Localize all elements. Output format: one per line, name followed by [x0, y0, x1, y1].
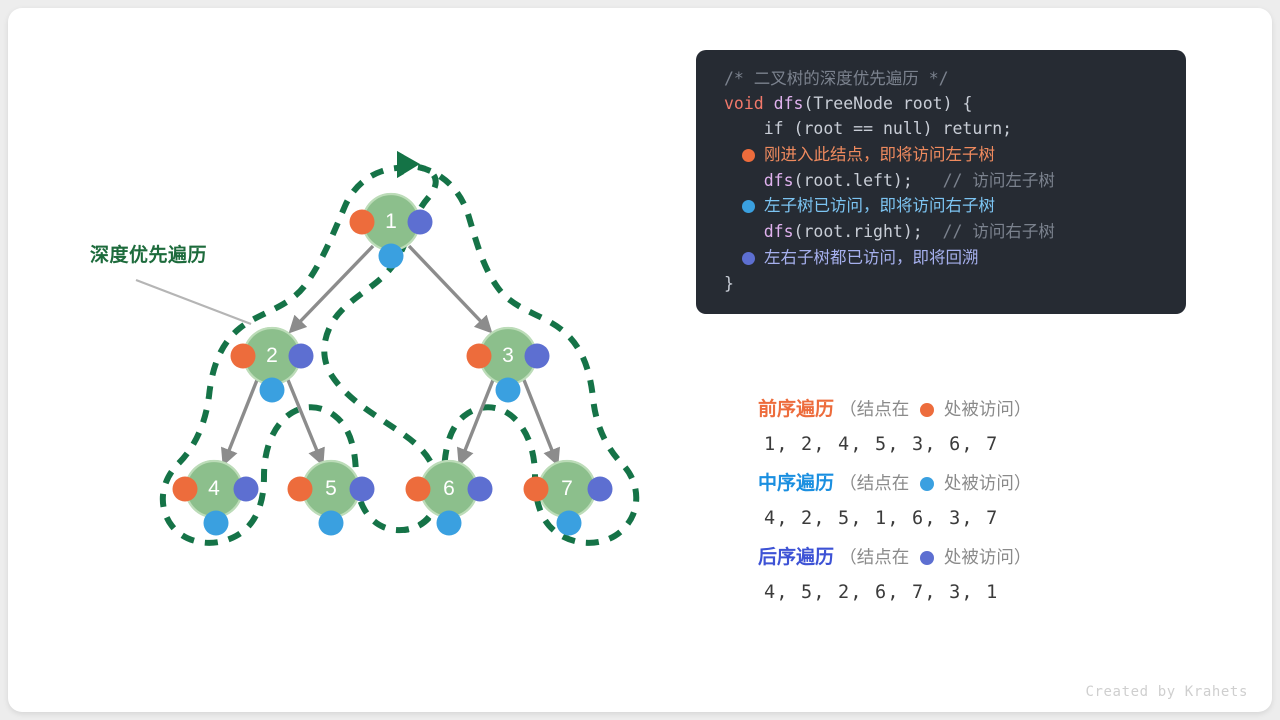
code-note-inorder-text: 左子树已访问，即将访问右子树 — [764, 193, 995, 218]
marker-preorder-1 — [350, 210, 375, 235]
edge-2-4 — [224, 380, 257, 463]
traversal-heading-inorder: 中序遍历 （结点在 处被访问） — [758, 467, 1188, 500]
tree-nodes — [173, 193, 613, 536]
preorder-dot-icon — [742, 149, 755, 162]
fn-dfs-left: dfs — [724, 171, 794, 190]
code-line-signature: void dfs(TreeNode root) { — [724, 91, 1164, 116]
postorder-dot-icon — [742, 252, 755, 265]
tree-node-4[interactable] — [173, 460, 259, 536]
traversal-note-close-preorder: 处被访问） — [944, 399, 1032, 419]
tree-node-3[interactable] — [467, 327, 550, 403]
marker-preorder-2 — [231, 344, 256, 369]
marker-postorder-7 — [588, 477, 613, 502]
binary-tree-diagram: 1 2 3 4 5 6 7 深度优先遍历 — [8, 8, 678, 712]
traversal-group-preorder: 前序遍历 （结点在 处被访问） 1, 2, 4, 5, 3, 6, 7 — [758, 393, 1188, 463]
inorder-dot-icon — [742, 200, 755, 213]
figure-card: 1 2 3 4 5 6 7 深度优先遍历 /* 二叉树的深度优先遍历 */voi… — [8, 8, 1272, 712]
code-line-dfs-left: dfs(root.left); // 访问左子树 — [724, 168, 1164, 193]
marker-preorder-3 — [467, 344, 492, 369]
traversal-sequence-inorder: 4, 2, 5, 1, 6, 3, 7 — [758, 500, 1188, 537]
marker-inorder-2 — [260, 378, 285, 403]
code-block: /* 二叉树的深度优先遍历 */void dfs(TreeNode root) … — [696, 50, 1186, 314]
edge-2-5 — [288, 380, 322, 463]
edge-3-7 — [524, 380, 557, 463]
fn-dfs-right: dfs — [724, 222, 794, 241]
traversal-note-open-postorder: （结点在 — [839, 547, 909, 567]
fn-dfs: dfs — [764, 94, 804, 113]
dfs-caption-label: 深度优先遍历 — [90, 240, 207, 267]
traversal-group-inorder: 中序遍历 （结点在 处被访问） 4, 2, 5, 1, 6, 3, 7 — [758, 467, 1188, 537]
marker-postorder-3 — [525, 344, 550, 369]
code-line-comment: /* 二叉树的深度优先遍历 */ — [724, 66, 1164, 91]
marker-preorder-6 — [406, 477, 431, 502]
code-note-postorder-text: 左右子树都已访问，即将回溯 — [764, 245, 979, 270]
inorder-dot-icon — [920, 477, 934, 491]
traversal-heading-postorder: 后序遍历 （结点在 处被访问） — [758, 541, 1188, 574]
traversal-note-close-postorder: 处被访问） — [944, 547, 1032, 567]
args-root-right: (root.right); — [794, 222, 923, 241]
marker-inorder-6 — [437, 511, 462, 536]
code-line-close-brace: } — [724, 271, 1164, 296]
traversal-sequence-postorder: 4, 5, 2, 6, 7, 3, 1 — [758, 574, 1188, 611]
marker-inorder-3 — [496, 378, 521, 403]
marker-inorder-5 — [319, 511, 344, 536]
marker-postorder-4 — [234, 477, 259, 502]
args-root-left: (root.left); — [794, 171, 913, 190]
traversal-sequence-preorder: 1, 2, 4, 5, 3, 6, 7 — [758, 426, 1188, 463]
tree-svg — [8, 8, 678, 712]
marker-preorder-4 — [173, 477, 198, 502]
traversal-name-inorder: 中序遍历 — [758, 473, 834, 494]
fn-params: (TreeNode root) { — [804, 94, 973, 113]
code-note-inorder: 左子树已访问，即将访问右子树 — [724, 193, 995, 218]
marker-preorder-5 — [288, 477, 313, 502]
marker-inorder-1 — [379, 244, 404, 269]
marker-inorder-4 — [204, 511, 229, 536]
code-line-nullcheck: if (root == null) return; — [724, 116, 1164, 141]
traversal-group-postorder: 后序遍历 （结点在 处被访问） 4, 5, 2, 6, 7, 3, 1 — [758, 541, 1188, 611]
marker-inorder-7 — [557, 511, 582, 536]
code-note-postorder: 左右子树都已访问，即将回溯 — [724, 245, 979, 270]
marker-postorder-1 — [408, 210, 433, 235]
postorder-dot-icon — [920, 551, 934, 565]
tree-node-2[interactable] — [231, 327, 314, 403]
marker-preorder-7 — [524, 477, 549, 502]
traversal-name-postorder: 后序遍历 — [758, 547, 834, 568]
watermark: Created by Krahets — [1085, 684, 1248, 700]
comment-visit-right: // 访问右子树 — [923, 222, 1055, 241]
code-note-preorder: 刚进入此结点，即将访问左子树 — [724, 142, 995, 167]
marker-postorder-5 — [350, 477, 375, 502]
code-line-dfs-right: dfs(root.right); // 访问右子树 — [724, 219, 1164, 244]
traversal-name-preorder: 前序遍历 — [758, 399, 834, 420]
keyword-void: void — [724, 94, 764, 113]
code-note-preorder-text: 刚进入此结点，即将访问左子树 — [764, 142, 995, 167]
comment-visit-left: // 访问左子树 — [913, 171, 1055, 190]
traversal-note-open-inorder: （结点在 — [839, 473, 909, 493]
preorder-dot-icon — [920, 403, 934, 417]
traversal-heading-preorder: 前序遍历 （结点在 处被访问） — [758, 393, 1188, 426]
marker-postorder-2 — [289, 344, 314, 369]
marker-postorder-6 — [468, 477, 493, 502]
traversal-results: 前序遍历 （结点在 处被访问） 1, 2, 4, 5, 3, 6, 7 中序遍历… — [758, 393, 1188, 615]
traversal-note-open-preorder: （结点在 — [839, 399, 909, 419]
caption-pointer-line — [136, 280, 251, 324]
traversal-note-close-inorder: 处被访问） — [944, 473, 1032, 493]
